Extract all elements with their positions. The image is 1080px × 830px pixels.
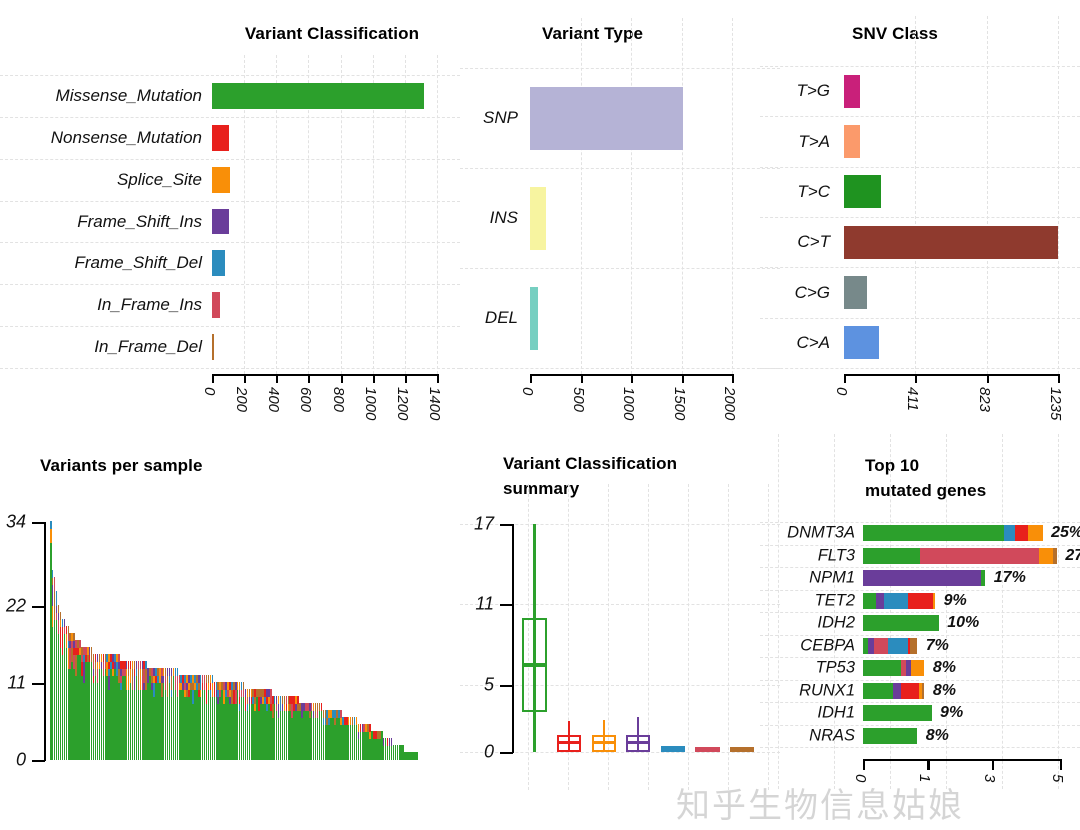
category-label: C>G (795, 283, 830, 303)
gene-bar-segment (1053, 548, 1057, 564)
x-axis-tick (373, 374, 375, 383)
y-axis-tick (500, 524, 513, 526)
gridline-horizontal (460, 268, 780, 269)
x-axis-tick (987, 374, 989, 383)
gridline-horizontal (0, 75, 460, 76)
gridline-horizontal (460, 168, 780, 169)
y-axis-tick-label: 11 (475, 594, 494, 615)
bar (212, 83, 424, 109)
x-axis-tick-label: 1500 (671, 387, 688, 420)
x-axis-tick (308, 374, 310, 383)
category-label: SNP (483, 108, 518, 128)
gene-bar (863, 705, 931, 721)
bar (844, 175, 881, 208)
gene-pct-label: 10% (947, 614, 979, 632)
variants-per-sample-panel: Variants per sample 0112234 (0, 432, 460, 830)
gridline-horizontal (760, 267, 1080, 268)
y-axis-line (512, 524, 514, 753)
bar (844, 326, 879, 359)
bar (844, 125, 860, 158)
category-label: Frame_Shift_Ins (77, 212, 202, 232)
gene-pct-label: 17% (994, 569, 1026, 587)
category-label: Frame_Shift_Del (74, 253, 202, 273)
gene-label: NPM1 (809, 569, 855, 588)
gridline-horizontal (460, 368, 780, 369)
x-axis-tick (915, 374, 917, 383)
category-label: T>G (796, 81, 830, 101)
gene-bar-segment (888, 638, 908, 654)
bar (844, 75, 860, 108)
x-axis-tick (244, 374, 246, 383)
x-axis-tick-label: 2000 (721, 387, 738, 420)
y-axis-tick (500, 685, 513, 687)
gridline-horizontal (0, 159, 460, 160)
gene-label: TP53 (816, 659, 855, 678)
gene-pct-label: 7% (926, 637, 949, 655)
gridline-vertical (915, 16, 916, 374)
gene-bar-segment (863, 683, 894, 699)
bar (844, 226, 1058, 259)
gene-bar-segment (920, 548, 1039, 564)
gridline-horizontal (760, 725, 1080, 726)
bar (212, 250, 225, 276)
sample-bar (416, 753, 418, 760)
gene-bar-segment (1028, 525, 1043, 541)
boxplot-median (730, 748, 754, 752)
gene-bar (863, 728, 917, 744)
x-axis-tick-label: 1000 (362, 387, 379, 420)
y-axis-tick-label: 0 (16, 750, 26, 771)
gridline-vertical (688, 484, 689, 790)
gene-bar-segment (933, 593, 935, 609)
bar (212, 292, 220, 318)
boxplot-median (695, 748, 719, 752)
boxplot (661, 432, 685, 760)
y-axis-tick (32, 606, 45, 608)
y-axis-line (44, 522, 46, 761)
gene-bar (863, 638, 917, 654)
gridline-horizontal (0, 242, 460, 243)
gridline-horizontal (760, 702, 1080, 703)
gene-label: TET2 (815, 591, 855, 610)
x-axis-tick-label: 3 (981, 774, 998, 782)
x-axis-tick-label: 5 (1049, 774, 1066, 782)
gene-label: DNMT3A (787, 524, 855, 543)
x-axis-tick (530, 374, 532, 383)
gridline-horizontal (760, 318, 1080, 319)
gene-bar (863, 593, 935, 609)
x-axis-tick-label: 800 (330, 387, 347, 412)
boxplot-median (557, 741, 581, 745)
bar (530, 287, 538, 350)
x-axis-tick-label: 0 (519, 387, 536, 395)
gridline-vertical (732, 18, 733, 374)
gene-pct-label: 9% (944, 592, 967, 610)
gridline-horizontal (760, 167, 1080, 168)
x-axis-tick (212, 374, 214, 383)
gene-bar-segment (1015, 525, 1028, 541)
gene-pct-label: 8% (933, 659, 956, 677)
boxplot (522, 432, 546, 760)
boxplot-median (592, 741, 616, 745)
y-axis-tick (32, 522, 45, 524)
gene-bar (863, 683, 924, 699)
gene-bar-segment (863, 660, 901, 676)
x-axis-tick-label: 600 (297, 387, 314, 412)
x-axis-tick (863, 759, 865, 770)
variant-type-panel: Variant Type SNPINSDEL0500100015002000 (460, 0, 780, 432)
gene-bar-segment (901, 683, 919, 699)
gene-bar-segment (863, 615, 939, 631)
x-axis-tick-label: 400 (265, 387, 282, 412)
x-axis-tick (1060, 759, 1062, 770)
sample-bar-segment (50, 521, 52, 529)
x-axis-tick-label: 1400 (426, 387, 443, 420)
gene-bar-segment (981, 570, 985, 586)
gene-bar-segment (863, 525, 1005, 541)
x-axis-tick-label: 823 (976, 387, 993, 412)
gene-bar (863, 660, 924, 676)
gene-label: RUNX1 (799, 681, 855, 700)
y-axis-tick-label: 5 (484, 674, 494, 695)
category-label: In_Frame_Del (94, 337, 202, 357)
x-axis-tick (844, 374, 846, 383)
gridline-vertical (631, 18, 632, 374)
gene-pct-label: 8% (933, 682, 956, 700)
variant-classification-panel: Variant Classification Missense_Mutation… (0, 0, 460, 432)
bar (212, 125, 229, 151)
gridline-horizontal (760, 545, 1080, 546)
x-axis-tick (631, 374, 633, 383)
bar (212, 334, 214, 360)
category-label: T>C (797, 182, 830, 202)
x-axis-tick-label: 500 (570, 387, 587, 412)
boxplot-median (522, 663, 546, 667)
gridline-horizontal (760, 590, 1080, 591)
gridline-horizontal (0, 326, 460, 327)
x-axis-tick (732, 374, 734, 383)
x-axis-tick (276, 374, 278, 383)
gene-label: IDH1 (817, 704, 855, 723)
gene-bar (863, 615, 938, 631)
x-axis-tick (581, 374, 583, 383)
boxplot (626, 432, 650, 760)
gridline-horizontal (760, 747, 1080, 748)
gridline-vertical (581, 18, 582, 374)
gene-pct-label: 9% (940, 704, 963, 722)
gene-pct-label: 27% (1065, 547, 1080, 565)
x-axis-line (844, 374, 1059, 376)
sample-bar-segment (56, 591, 58, 606)
boxplot (557, 432, 581, 760)
boxplot-median (661, 748, 685, 752)
x-axis-tick-label: 200 (233, 387, 250, 412)
gene-label: CEBPA (800, 636, 855, 655)
bar (212, 167, 230, 193)
category-label: Splice_Site (117, 170, 202, 190)
bar (530, 187, 546, 250)
x-axis-line (863, 759, 1061, 761)
gene-bar-segment (1004, 525, 1015, 541)
gene-bar-segment (908, 593, 934, 609)
bar (530, 87, 683, 150)
y-axis-tick-label: 11 (7, 673, 26, 694)
x-axis-tick-label: 0 (833, 387, 850, 395)
gridline-horizontal (760, 116, 1080, 117)
gridline-horizontal (0, 117, 460, 118)
gene-pct-label: 25% (1051, 524, 1080, 542)
x-axis-tick-label: 1235 (1047, 387, 1064, 420)
y-axis-tick (500, 752, 513, 754)
y-axis-tick (500, 604, 513, 606)
gene-bar-segment (863, 705, 932, 721)
gene-bar-segment (911, 660, 924, 676)
x-axis-tick-label: 1200 (394, 387, 411, 420)
gene-bar-segment (910, 638, 917, 654)
gridline-vertical (1058, 16, 1059, 374)
category-label: C>T (797, 232, 830, 252)
gene-bar-segment (863, 548, 921, 564)
snv-class-panel: SNV Class T>GT>AT>CC>TC>GC>A04118231235 (760, 0, 1080, 432)
x-axis-tick (341, 374, 343, 383)
watermark: 知乎生物信息姑娘 (676, 778, 964, 827)
gene-bar-segment (863, 728, 917, 744)
gridline-horizontal (0, 201, 460, 202)
bar (844, 276, 867, 309)
category-label: Missense_Mutation (56, 86, 202, 106)
gridline-horizontal (460, 68, 780, 69)
y-axis-tick (32, 760, 45, 762)
gridline-vertical (987, 16, 988, 374)
category-label: DEL (485, 308, 518, 328)
category-label: C>A (796, 333, 830, 353)
category-label: T>A (798, 132, 830, 152)
variant-classification-summary-panel: Variant Classification summary 051117 (460, 432, 780, 830)
gene-label: NRAS (809, 726, 855, 745)
gridline-horizontal (760, 657, 1080, 658)
gridline-vertical (728, 484, 729, 790)
category-label: Nonsense_Mutation (51, 128, 202, 148)
gridline-horizontal (760, 217, 1080, 218)
x-axis-tick-label: 411 (904, 387, 921, 411)
gridline-horizontal (760, 368, 1080, 369)
x-axis-tick (927, 759, 929, 770)
sample-bar-segment (50, 528, 52, 543)
boxplot-median (626, 741, 650, 745)
x-axis-tick (992, 759, 994, 770)
sample-bar-segment (54, 577, 56, 592)
gridline-vertical (682, 18, 683, 374)
x-axis-tick (682, 374, 684, 383)
boxplot (695, 432, 719, 760)
category-label: INS (490, 208, 518, 228)
gridline-horizontal (0, 284, 460, 285)
x-axis-tick-label: 0 (201, 387, 218, 395)
y-axis-tick-label: 22 (6, 596, 26, 617)
gridline-horizontal (760, 612, 1080, 613)
gene-bar-segment (874, 638, 889, 654)
y-axis-tick-label: 0 (484, 742, 494, 763)
boxplot (730, 432, 754, 760)
x-axis-tick (405, 374, 407, 383)
sample-bar-segment (416, 752, 418, 760)
gridline-horizontal (0, 368, 460, 369)
gene-label: FLT3 (818, 546, 855, 565)
bar (212, 209, 229, 235)
x-axis-tick (1058, 374, 1060, 383)
y-axis-tick (32, 683, 45, 685)
category-label: In_Frame_Ins (97, 295, 202, 315)
gene-bar-segment (1039, 548, 1054, 564)
gene-bar (863, 570, 985, 586)
y-axis-tick-label: 34 (6, 512, 26, 533)
gene-bar-segment (863, 593, 876, 609)
x-axis-tick (437, 374, 439, 383)
gene-bar-segment (922, 683, 925, 699)
gene-bar-segment (884, 593, 908, 609)
x-axis-tick-label: 1000 (620, 387, 637, 420)
gene-label: IDH2 (817, 614, 855, 633)
gene-bar (863, 548, 1056, 564)
gene-bar-segment (863, 570, 982, 586)
gridline-horizontal (760, 66, 1080, 67)
gridline-horizontal (760, 567, 1080, 568)
y-axis-tick-label: 17 (474, 514, 494, 535)
boxplot (592, 432, 616, 760)
gene-pct-label: 8% (926, 727, 949, 745)
gene-bar (863, 525, 1042, 541)
top-10-mutated-genes-panel: Top 10 mutated genes DNMT3A25%FLT327%NPM… (760, 432, 1080, 830)
